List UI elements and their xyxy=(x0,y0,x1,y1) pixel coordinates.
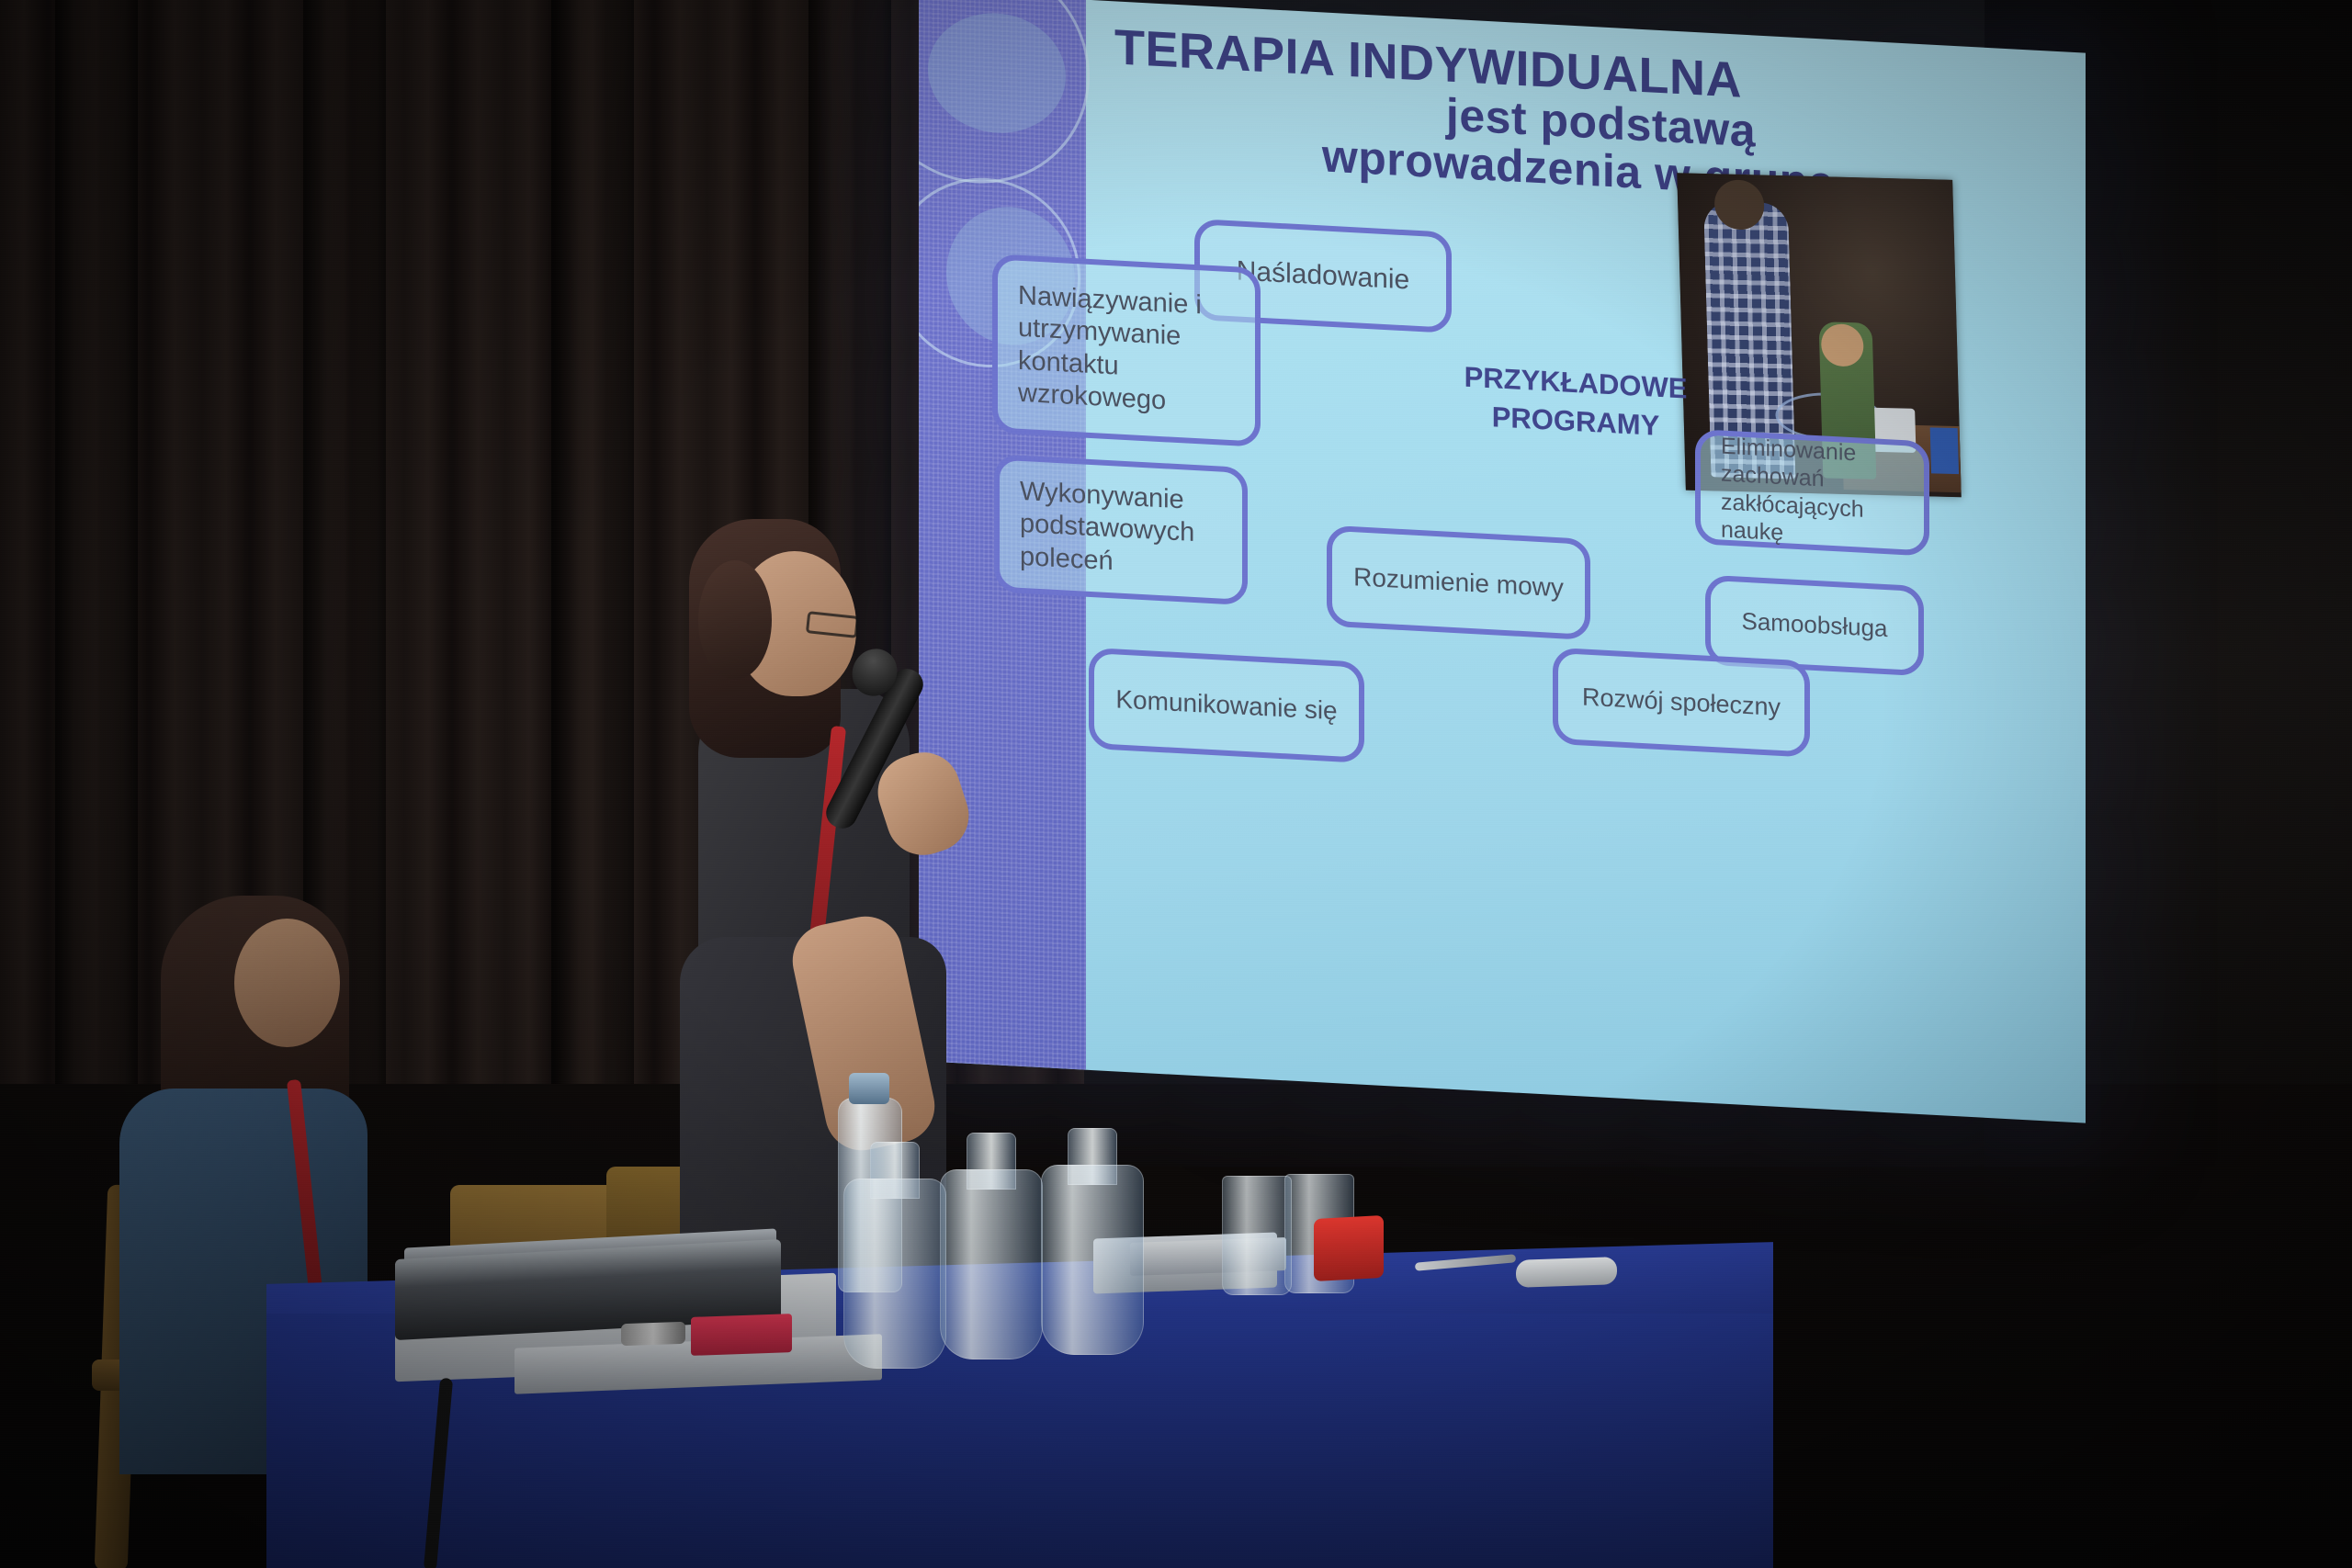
slide-box-label: Nawiązywanie i utrzymywanie kontaktu wzr… xyxy=(1018,280,1235,422)
projection-screen: TERAPIA INDYWIDUALNA jest podstawą wprow… xyxy=(919,0,2086,1123)
slide-box-rozwoj-spoleczny: Rozwój społeczny xyxy=(1553,648,1810,758)
seated-head xyxy=(234,919,340,1047)
slide-box-polecenia: Wykonywanie podstawowych poleceń xyxy=(994,454,1248,605)
presenter-hair-bun xyxy=(698,560,772,680)
red-box xyxy=(1314,1215,1384,1281)
slide-box-komunikowanie: Komunikowanie się xyxy=(1089,648,1364,763)
white-remote[interactable] xyxy=(1516,1257,1617,1288)
water-carafe xyxy=(843,1179,946,1369)
photo-blue-object xyxy=(1930,427,1959,474)
slide-box-label: Samoobsługa xyxy=(1742,607,1888,644)
water-carafe xyxy=(940,1169,1043,1359)
presentation-scene: TERAPIA INDYWIDUALNA jest podstawą wprow… xyxy=(0,0,2352,1568)
slide-center-label: PRZYKŁADOWE PROGRAMY xyxy=(1433,356,1718,448)
water-carafe xyxy=(1041,1165,1144,1355)
slide-box-label: Wykonywanie podstawowych poleceń xyxy=(1020,476,1222,584)
bottle-cap xyxy=(849,1073,889,1104)
red-notebook xyxy=(691,1314,792,1356)
drinking-glass xyxy=(1222,1176,1292,1295)
slide-box-eliminowanie: Eliminowanie zachowań zakłócających nauk… xyxy=(1695,429,1929,557)
slide-box-label: Eliminowanie zachowań zakłócających nauk… xyxy=(1721,432,1904,554)
keys xyxy=(621,1322,685,1346)
slide-box-kontakt-wzrokowy: Nawiązywanie i utrzymywanie kontaktu wzr… xyxy=(992,254,1261,447)
slide-box-label: Rozwój społeczny xyxy=(1582,682,1781,722)
slide-box-rozumienie-mowy: Rozumienie mowy xyxy=(1327,525,1590,640)
slide-box-label: Komunikowanie się xyxy=(1115,683,1337,727)
slide-box-label: Rozumienie mowy xyxy=(1353,561,1564,604)
slide: TERAPIA INDYWIDUALNA jest podstawą wprow… xyxy=(919,0,2086,1123)
slide-box-label: Naśladowanie xyxy=(1237,254,1409,298)
